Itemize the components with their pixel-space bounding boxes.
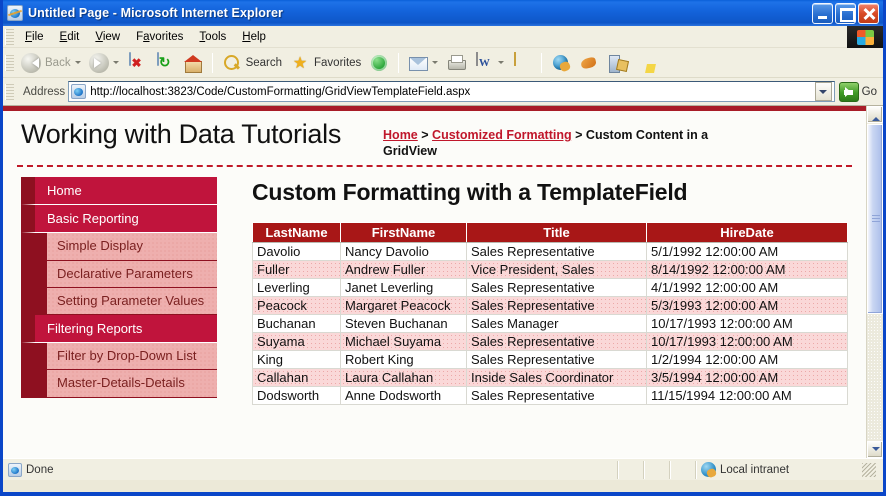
home-button[interactable] <box>179 51 207 75</box>
cell-lastname: Suyama <box>253 333 341 351</box>
back-button[interactable]: Back <box>17 51 85 75</box>
favorites-button[interactable]: Favorites <box>286 51 365 75</box>
cell-hiredate: 3/5/1994 12:00:00 AM <box>647 369 848 387</box>
favorites-label: Favorites <box>314 57 361 69</box>
edit-page-button[interactable] <box>603 51 631 75</box>
search-label: Search <box>246 57 282 69</box>
msn-butterfly-icon <box>579 53 599 73</box>
sidebar-item-home[interactable]: Home <box>21 177 217 205</box>
toolbar: Back Search Favorites <box>3 48 883 78</box>
cell-lastname: Davolio <box>253 243 341 261</box>
cell-firstname: Margaret Peacock <box>341 297 467 315</box>
cell-hiredate: 10/17/1993 12:00:00 AM <box>647 315 848 333</box>
table-header-row: LastName FirstName Title HireDate <box>253 223 848 243</box>
sidebar-item-setting-parameter-values[interactable]: Setting Parameter Values <box>21 288 217 315</box>
scroll-up-button[interactable] <box>867 106 883 123</box>
toolbar-gripper[interactable] <box>5 55 14 71</box>
scrollbar-thumb[interactable] <box>867 124 883 314</box>
address-url-text: http://localhost:3823/Code/CustomFormatt… <box>90 86 810 98</box>
status-cell-1 <box>617 461 643 479</box>
sidebar-item-filtering-reports[interactable]: Filtering Reports <box>21 315 217 343</box>
menu-help[interactable]: Help <box>234 28 274 46</box>
word-chevron-down-icon[interactable] <box>498 61 504 67</box>
cell-lastname: Fuller <box>253 261 341 279</box>
star-icon <box>290 53 310 73</box>
cell-firstname: Robert King <box>341 351 467 369</box>
cell-title: Sales Representative <box>467 333 647 351</box>
page-header: Working with Data Tutorials Home > Custo… <box>17 111 852 167</box>
table-row: Fuller Andrew Fuller Vice President, Sal… <box>253 261 848 279</box>
cell-lastname: Leverling <box>253 279 341 297</box>
encoding-icon <box>635 53 655 73</box>
menu-file[interactable]: File <box>17 28 52 46</box>
zone-label: Local intranet <box>720 464 789 476</box>
back-chevron-down-icon[interactable] <box>75 61 81 67</box>
window-title: Untitled Page - Microsoft Internet Explo… <box>28 6 283 20</box>
media-icon <box>369 53 389 73</box>
table-row: Callahan Laura Callahan Inside Sales Coo… <box>253 369 848 387</box>
sidebar-item-simple-display[interactable]: Simple Display <box>21 233 217 260</box>
cell-hiredate: 11/15/1994 12:00:00 AM <box>647 387 848 405</box>
page-status-icon <box>8 463 22 477</box>
status-cell-3 <box>669 461 695 479</box>
main-content: Custom Formatting with a TemplateField L… <box>217 177 852 405</box>
address-gripper[interactable] <box>5 84 14 100</box>
print-button[interactable] <box>442 51 470 75</box>
cell-hiredate: 10/17/1993 12:00:00 AM <box>647 333 848 351</box>
forward-arrow-icon <box>89 53 109 73</box>
edit-icon <box>607 53 627 73</box>
toolbar-separator-2 <box>398 53 399 73</box>
messenger-button[interactable] <box>547 51 575 75</box>
cell-firstname: Andrew Fuller <box>341 261 467 279</box>
column-header-lastname[interactable]: LastName <box>253 223 341 243</box>
intranet-zone-icon <box>701 462 716 477</box>
address-bar: Address http://localhost:3823/Code/Custo… <box>3 78 883 106</box>
cell-title: Vice President, Sales <box>467 261 647 279</box>
table-row: Dodsworth Anne Dodsworth Sales Represent… <box>253 387 848 405</box>
cell-hiredate: 5/3/1993 12:00:00 AM <box>647 297 848 315</box>
refresh-icon <box>155 53 175 73</box>
printer-icon <box>446 53 466 73</box>
stop-icon <box>127 53 147 73</box>
mail-button[interactable] <box>404 51 442 75</box>
cell-lastname: Peacock <box>253 297 341 315</box>
search-icon <box>222 53 242 73</box>
note-icon <box>512 53 532 73</box>
refresh-button[interactable] <box>151 51 179 75</box>
address-input[interactable]: http://localhost:3823/Code/CustomFormatt… <box>68 81 834 102</box>
cell-title: Sales Representative <box>467 351 647 369</box>
cell-hiredate: 8/14/1992 12:00:00 AM <box>647 261 848 279</box>
cell-firstname: Janet Leverling <box>341 279 467 297</box>
web-page: Working with Data Tutorials Home > Custo… <box>3 106 866 458</box>
sidebar-item-master-details-details[interactable]: Master-Details-Details <box>21 370 217 397</box>
forward-button[interactable] <box>85 51 123 75</box>
research-button[interactable] <box>575 51 603 75</box>
mail-chevron-down-icon[interactable] <box>432 61 438 67</box>
go-label: Go <box>862 86 877 98</box>
status-cell-2 <box>643 461 669 479</box>
cell-hiredate: 1/2/1994 12:00:00 AM <box>647 351 848 369</box>
menu-gripper[interactable] <box>5 29 14 45</box>
home-icon <box>183 53 203 73</box>
table-row: Buchanan Steven Buchanan Sales Manager 1… <box>253 315 848 333</box>
table-row: Davolio Nancy Davolio Sales Representati… <box>253 243 848 261</box>
minimize-button[interactable] <box>812 3 833 24</box>
cell-title: Sales Representative <box>467 243 647 261</box>
browser-window: Untitled Page - Microsoft Internet Explo… <box>0 0 886 496</box>
back-arrow-icon <box>21 53 41 73</box>
go-arrow-icon <box>839 82 859 102</box>
cell-firstname: Steven Buchanan <box>341 315 467 333</box>
ie-logo-icon <box>847 26 883 48</box>
forward-chevron-down-icon[interactable] <box>113 61 119 67</box>
resize-grip-icon[interactable] <box>862 463 876 477</box>
encoding-button[interactable] <box>631 51 659 75</box>
cell-title: Sales Representative <box>467 387 647 405</box>
sidebar-item-filter-by-drop-down-list[interactable]: Filter by Drop-Down List <box>21 343 217 370</box>
breadcrumb-link-home[interactable]: Home <box>383 128 418 142</box>
back-label: Back <box>45 57 71 69</box>
cell-hiredate: 4/1/1992 12:00:00 AM <box>647 279 848 297</box>
edit-word-button[interactable] <box>470 51 508 75</box>
breadcrumb-separator-2: > <box>575 128 582 142</box>
content-heading: Custom Formatting with a TemplateField <box>252 179 848 206</box>
menu-tools[interactable]: Tools <box>191 28 234 46</box>
status-bar: Done Local intranet <box>3 458 883 480</box>
cell-lastname: Callahan <box>253 369 341 387</box>
page-icon <box>71 84 86 99</box>
status-message: Done <box>3 461 617 479</box>
ie-page-icon <box>7 5 23 21</box>
column-header-firstname[interactable]: FirstName <box>341 223 467 243</box>
stop-button[interactable] <box>123 51 151 75</box>
cell-title: Sales Representative <box>467 297 647 315</box>
cell-firstname: Michael Suyama <box>341 333 467 351</box>
mail-icon <box>408 53 428 73</box>
close-button[interactable] <box>858 3 879 24</box>
sidebar-item-declarative-parameters[interactable]: Declarative Parameters <box>21 261 217 288</box>
cell-firstname: Laura Callahan <box>341 369 467 387</box>
sidebar-item-basic-reporting[interactable]: Basic Reporting <box>21 205 217 233</box>
menu-view[interactable]: View <box>87 28 128 46</box>
cell-title: Sales Representative <box>467 279 647 297</box>
vertical-scrollbar[interactable] <box>866 106 883 458</box>
table-body: Davolio Nancy Davolio Sales Representati… <box>253 243 848 405</box>
toolbar-separator-3 <box>541 53 542 73</box>
notes-button[interactable] <box>508 51 536 75</box>
employees-gridview: LastName FirstName Title HireDate Davoli… <box>252 222 848 405</box>
menu-edit[interactable]: Edit <box>52 28 88 46</box>
menu-favorites[interactable]: Favorites <box>128 28 191 46</box>
column-header-title[interactable]: Title <box>467 223 647 243</box>
cell-lastname: King <box>253 351 341 369</box>
cell-lastname: Dodsworth <box>253 387 341 405</box>
window-controls <box>812 3 881 24</box>
status-text: Done <box>26 464 54 476</box>
cell-lastname: Buchanan <box>253 315 341 333</box>
page-title: Working with Data Tutorials <box>21 119 341 150</box>
cell-firstname: Nancy Davolio <box>341 243 467 261</box>
cell-hiredate: 5/1/1992 12:00:00 AM <box>647 243 848 261</box>
cell-firstname: Anne Dodsworth <box>341 387 467 405</box>
globe-icon <box>551 53 571 73</box>
security-zone[interactable]: Local intranet <box>695 461 883 479</box>
breadcrumb-link-section[interactable]: Customized Formatting <box>432 128 572 142</box>
column-header-hiredate[interactable]: HireDate <box>647 223 848 243</box>
sidebar-nav: Home Basic Reporting Simple Display Decl… <box>17 177 217 405</box>
breadcrumb: Home > Customized Formatting > Custom Co… <box>383 128 713 159</box>
breadcrumb-separator-1: > <box>421 128 428 142</box>
media-button[interactable] <box>365 51 393 75</box>
address-label: Address <box>20 86 65 98</box>
go-button[interactable]: Go <box>838 81 881 103</box>
table-row: Suyama Michael Suyama Sales Representati… <box>253 333 848 351</box>
cell-title: Inside Sales Coordinator <box>467 369 647 387</box>
title-bar: Untitled Page - Microsoft Internet Explo… <box>3 0 883 26</box>
search-button[interactable]: Search <box>218 51 286 75</box>
table-row: Leverling Janet Leverling Sales Represen… <box>253 279 848 297</box>
scroll-down-button[interactable] <box>867 441 883 458</box>
table-row: King Robert King Sales Representative 1/… <box>253 351 848 369</box>
address-dropdown-chevron-icon[interactable] <box>815 82 832 101</box>
maximize-button[interactable] <box>835 3 856 24</box>
toolbar-separator <box>212 53 213 73</box>
page-viewport: Working with Data Tutorials Home > Custo… <box>3 106 883 458</box>
word-icon <box>474 53 494 73</box>
cell-title: Sales Manager <box>467 315 647 333</box>
scrollbar-track[interactable] <box>867 314 883 441</box>
menu-bar: File Edit View Favorites Tools Help <box>3 26 883 48</box>
table-row: Peacock Margaret Peacock Sales Represent… <box>253 297 848 315</box>
